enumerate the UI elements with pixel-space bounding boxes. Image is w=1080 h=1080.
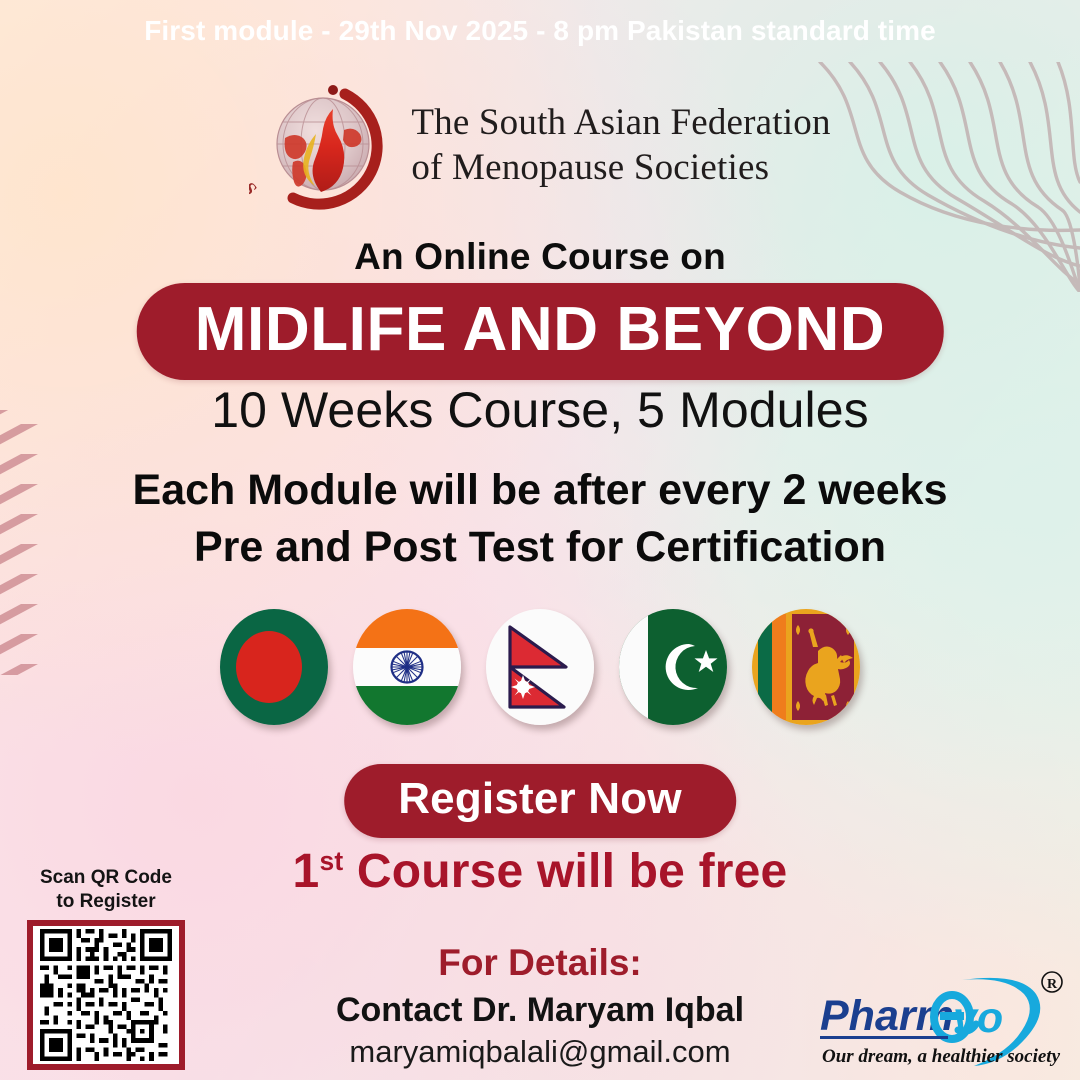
free-note-text: Course will be free	[343, 845, 787, 898]
organization-name-line2: of Menopause Societies	[411, 145, 830, 190]
qr-code-frame[interactable]	[27, 920, 185, 1070]
qr-caption-line2: to Register	[16, 890, 196, 914]
pharmevo-logo: Pharm vo R Our dream, a healthier societ…	[812, 968, 1070, 1068]
course-title: MIDLIFE AND BEYOND	[137, 283, 944, 380]
qr-caption-line1: Scan QR Code	[16, 866, 196, 890]
flag-srilanka	[752, 609, 860, 725]
course-detail-line2: Pre and Post Test for Certification	[0, 523, 1080, 572]
organization-name: The South Asian Federation of Menopause …	[411, 100, 830, 190]
announcement-text: First module - 29th Nov 2025 - 8 pm Paki…	[144, 15, 936, 47]
organization-header: SAFOMS The South Asian Federation of Men…	[0, 80, 1080, 210]
course-subtitle: 10 Weeks Course, 5 Modules	[0, 381, 1080, 439]
course-kicker: An Online Course on	[0, 236, 1080, 278]
flag-pakistan	[619, 609, 727, 725]
qr-register-block[interactable]: Scan QR Code to Register	[16, 866, 196, 1070]
flag-bangladesh	[220, 609, 328, 725]
participating-country-flags	[0, 602, 1080, 732]
registered-trademark-icon: R	[1042, 972, 1062, 992]
poster-canvas: First module - 29th Nov 2025 - 8 pm Paki…	[0, 0, 1080, 1080]
free-note-ordinal: st	[319, 846, 343, 876]
flag-nepal	[486, 609, 594, 725]
announcement-banner: First module - 29th Nov 2025 - 8 pm Paki…	[0, 0, 1080, 62]
register-now-button[interactable]: Register Now	[344, 764, 736, 838]
svg-text:R: R	[1047, 977, 1058, 992]
safoms-globe-flame-icon: SAFOMS	[249, 80, 389, 210]
course-detail-line1: Each Module will be after every 2 weeks	[0, 466, 1080, 515]
qr-caption: Scan QR Code to Register	[16, 866, 196, 914]
free-note-number: 1	[293, 845, 320, 898]
pharmevo-tagline: Our dream, a healthier society	[822, 1046, 1061, 1067]
flag-india	[353, 609, 461, 725]
qr-code-icon	[36, 929, 176, 1061]
svg-text:SAFOMS: SAFOMS	[249, 103, 260, 199]
organization-name-line1: The South Asian Federation	[411, 100, 830, 145]
